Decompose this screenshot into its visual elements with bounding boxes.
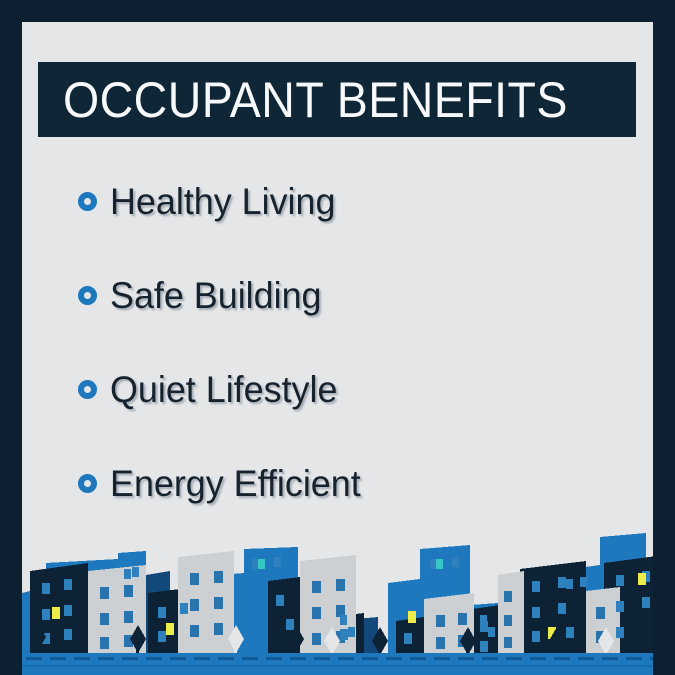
benefit-list: Healthy Living Safe Building Quiet Lifes… (78, 154, 618, 530)
page-title: OCCUPANT BENEFITS (63, 75, 568, 125)
list-item-label: Energy Efficient (110, 465, 361, 502)
ring-bullet-icon (78, 192, 97, 211)
title-bar: OCCUPANT BENEFITS (38, 62, 636, 137)
ring-bullet-icon (78, 380, 97, 399)
list-item-label: Healthy Living (110, 183, 335, 220)
ring-bullet-icon (78, 474, 97, 493)
content-panel: OCCUPANT BENEFITS Healthy Living Safe Bu… (22, 22, 653, 675)
ring-bullet-icon (78, 286, 97, 305)
list-item[interactable]: Healthy Living (78, 154, 618, 248)
list-item[interactable]: Safe Building (78, 248, 618, 342)
slide-canvas: OCCUPANT BENEFITS Healthy Living Safe Bu… (0, 0, 675, 675)
list-item-label: Safe Building (110, 277, 322, 314)
list-item[interactable]: Quiet Lifestyle (78, 342, 618, 436)
list-item-label: Quiet Lifestyle (110, 371, 337, 408)
city-skyline-illustration (22, 515, 653, 675)
